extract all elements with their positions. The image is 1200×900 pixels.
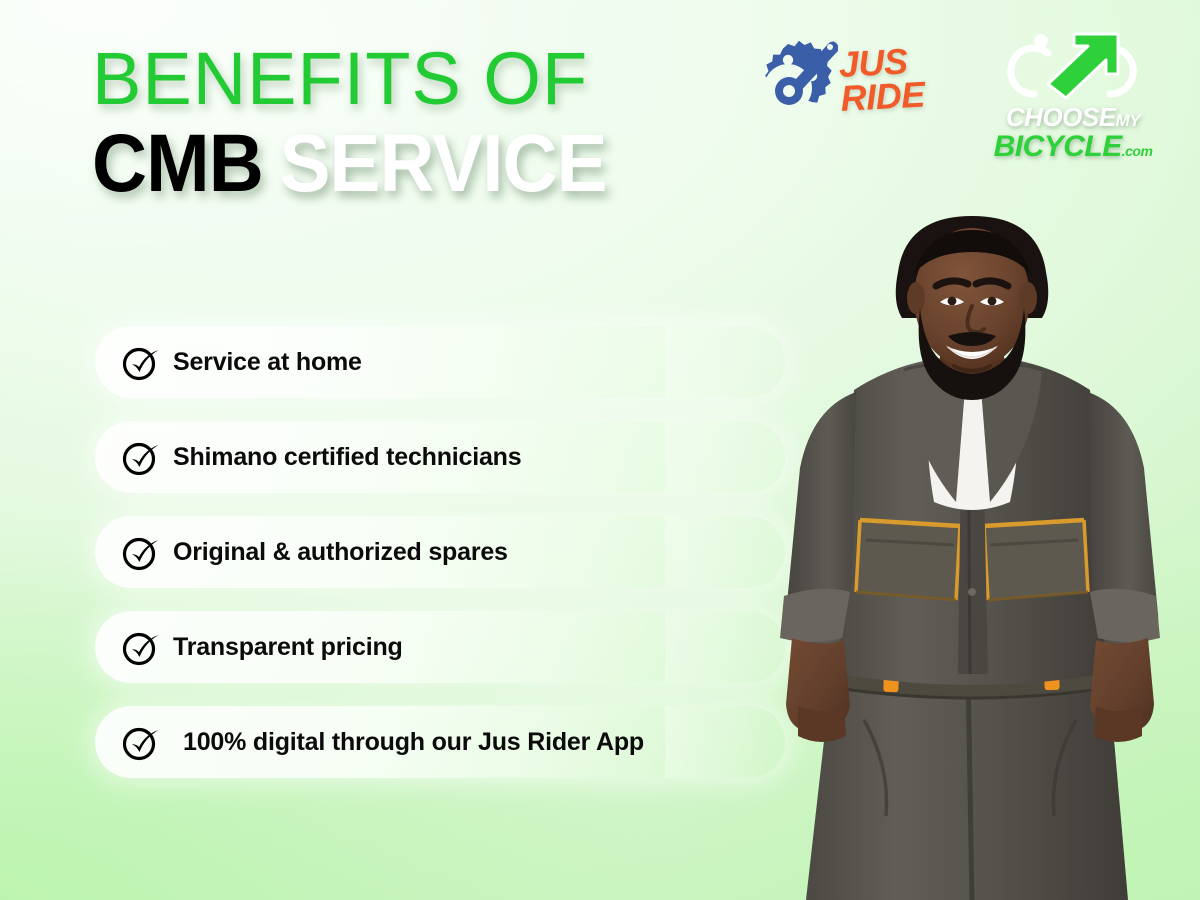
logo-jusride-text: JUS RIDE [838,44,925,117]
benefit-label: Service at home [173,348,362,377]
logo-choosemybicycle-text: CHOOSEMY BICYCLE.com [968,104,1178,163]
check-circle-icon [119,625,163,669]
benefit-label: 100% digital through our Jus Rider App [183,728,644,757]
logo-cmb-line1: CHOOSEMY [968,104,1178,130]
check-circle-icon [119,435,163,479]
logo-cmb-choose: CHOOSE [1006,102,1116,132]
benefit-item-3[interactable]: Original & authorized spares [95,516,785,588]
logo-cmb-dotcom: .com [1122,143,1153,159]
benefit-item-4[interactable]: Transparent pricing [95,611,785,683]
poster-canvas: BENEFITS OF CMBSERVICE [0,0,1200,900]
logo-row: JUS RIDE CHOOSEMY BI [736,32,1176,162]
check-circle-icon [119,720,163,764]
logo-cmb-line2: BICYCLE.com [968,131,1178,163]
headline-line-1: BENEFITS OF [92,44,732,114]
benefit-item-2[interactable]: Shimano certified technicians [95,421,785,493]
logo-jusride-line2: RIDE [840,78,926,117]
chainring-crank-icon [742,36,838,141]
headline-brand: CMB [92,118,263,209]
check-circle-icon [119,530,163,574]
headline-line-2: CMBSERVICE [92,124,687,204]
benefit-label: Shimano certified technicians [173,443,521,472]
benefit-label: Transparent pricing [173,633,403,662]
benefits-list: Service at home Shimano certified techni… [95,326,785,778]
technician-photo [736,200,1200,900]
headline-block: BENEFITS OF CMBSERVICE [92,44,732,205]
logo-choosemybicycle[interactable]: CHOOSEMY BICYCLE.com [968,28,1178,168]
bicycle-arrow-icon [996,28,1148,111]
benefit-item-1[interactable]: Service at home [95,326,785,398]
benefit-item-5[interactable]: 100% digital through our Jus Rider App [95,706,785,778]
headline-word: SERVICE [280,118,607,209]
logo-jusride[interactable]: JUS RIDE [736,32,936,142]
benefit-label: Original & authorized spares [173,538,508,567]
check-circle-icon [119,340,163,384]
logo-cmb-my: MY [1116,111,1141,130]
logo-cmb-bicycle: BICYCLE [994,130,1122,163]
